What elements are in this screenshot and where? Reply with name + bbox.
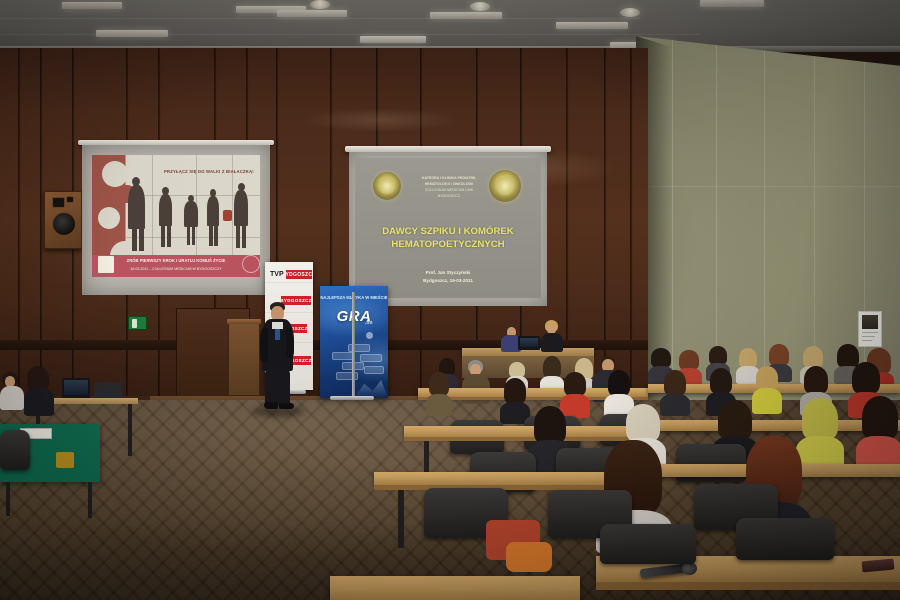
right-slide-header-4: BYDGOSZCZ [415,194,483,199]
chair [736,518,834,560]
wall-notice [858,311,882,347]
right-slide-title-2: HEMATOPOETYCZNYCH [355,239,541,251]
technician [0,372,24,412]
ceiling [0,0,900,52]
chair [0,430,30,470]
audience-bag [506,542,552,572]
head-table-person [540,320,564,350]
left-slide-seal [242,255,260,273]
ceiling-dome-light [470,2,490,11]
university-crest-icon [489,170,521,202]
ceiling-seam [0,18,640,19]
ceiling-light [430,12,502,19]
ceiling-dome-light [310,0,330,9]
gra-banner-foot [330,396,374,400]
right-slide-header-2: HEMATOLOGII I ONKOLOGII [415,182,483,187]
equipment-case [56,452,74,468]
ceiling-light [96,30,168,37]
ceiling-light [556,22,628,29]
right-projection-screen: KATEDRA I KLINIKA PEDIATRII, HEMATOLOGII… [349,152,547,306]
left-projection-screen: PRZYŁĄCZ SIĘ DO WALKI Z BIAŁACZKĄ! ZRÓB … [82,145,270,295]
right-slide-place-date: Bydgoszcz, 16-03-2011 [355,278,541,284]
ceiling-dome-light [620,8,640,17]
audience-member [500,378,530,422]
presenter [258,302,298,410]
right-slide-header-1: KATEDRA I KLINIKA PEDIATRII, [415,176,483,181]
ceiling-light [700,0,764,7]
tvp-brand-text: TVP [270,271,284,278]
technician [24,366,54,414]
exit-sign-icon [128,316,147,330]
right-slide: KATEDRA I KLINIKA PEDIATRII, HEMATOLOGII… [355,158,541,298]
left-slide-footer-2: 16.03.2011 – COLLEGIUM MEDICUM W BYDGOSZ… [92,267,260,271]
projector [94,382,122,398]
desk-foreground [330,576,580,600]
lecture-hall-photo: PRZYŁĄCZ SIĘ DO WALKI Z BIAŁACZKĄ! ZRÓB … [0,0,900,600]
wall-loudspeaker [44,191,82,249]
right-slide-header-3: COLLEGIUM MEDICUM UMK [415,188,483,193]
chair [600,524,696,564]
right-slide-author: Prof. Jan Styczyński [355,270,541,276]
left-slide: PRZYŁĄCZ SIĘ DO WALKI Z BIAŁACZKĄ! ZRÓB … [92,155,260,277]
right-slide-title-1: DAWCY SZPIKU I KOMÓREK [355,226,541,238]
tvp-city-chip: BYDGOSZCZ [286,270,312,279]
left-slide-headline: PRZYŁĄCZ SIĘ DO WALKI Z BIAŁACZKĄ! [164,169,254,174]
audience-member [426,372,452,412]
ceiling-light [277,10,347,17]
tech-laptop [62,378,90,398]
left-slide-logo [98,256,114,273]
head-table-laptop [518,336,540,350]
audience-member [856,396,900,466]
university-crest-icon [373,172,401,200]
lectern [228,322,260,396]
left-slide-footer-1: ZRÓB PIERWSZY KROK I URATUJ KOMUŚ ŻYCIE [92,258,260,263]
ceiling-light [360,36,426,43]
gra-suffix-text: .fm [365,320,373,326]
ceiling-light [62,2,122,9]
